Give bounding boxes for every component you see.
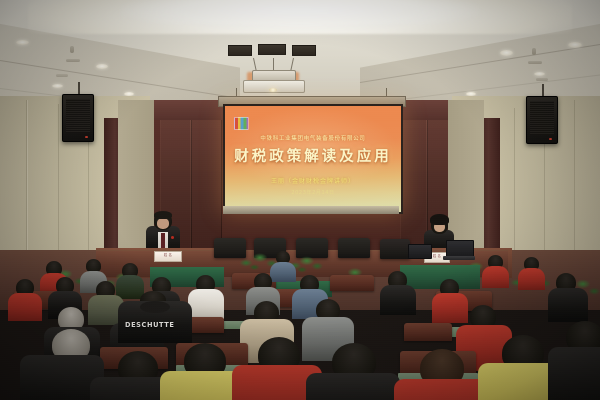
ceiling-speaker-baffle — [56, 74, 68, 77]
seat-back — [404, 323, 452, 341]
slide-title: 财税政策解读及应用 — [225, 145, 401, 166]
audience-torso — [518, 268, 545, 290]
audience-torso — [270, 262, 296, 282]
slide-date: 2023年2月14日 — [225, 189, 401, 196]
downlight — [52, 84, 63, 88]
downlight — [16, 40, 29, 45]
downlight — [96, 64, 108, 69]
seat-back — [330, 275, 374, 291]
audience-torso — [394, 379, 488, 400]
ceiling-light-panel-core — [120, 0, 480, 24]
audience-torso — [8, 293, 42, 321]
ceiling-panel-dark — [258, 44, 286, 55]
ceiling-speaker-baffle — [536, 78, 548, 81]
projector-assembly — [243, 58, 303, 92]
audience-area: DESCHUTTE — [0, 225, 600, 400]
ceiling-speaker — [532, 48, 536, 55]
slide-logo-icon — [234, 117, 249, 130]
audience-torso — [306, 373, 400, 400]
downlight — [568, 42, 582, 48]
projection-screen: 中铁科工业集团电气装备股份有限公司 财税政策解读及应用 王丽（金财财税金牌讲师）… — [223, 104, 403, 214]
audience-torso — [548, 288, 588, 322]
slide-company-line: 中铁科工业集团电气装备股份有限公司 — [225, 134, 401, 142]
ceiling-panel-dark — [292, 45, 316, 56]
ceiling-panel-dark — [228, 45, 252, 56]
audience-torso — [188, 289, 224, 319]
projection-screen-surface: 中铁科工业集团电气装备股份有限公司 财税政策解读及应用 王丽（金财财税金牌讲师）… — [225, 106, 401, 212]
projector-lens — [269, 88, 277, 92]
downlight — [500, 50, 513, 56]
audience-torso — [116, 275, 144, 299]
screen-bottom-bar — [223, 206, 399, 214]
audience-torso — [380, 285, 416, 315]
audience-torso — [548, 347, 600, 400]
wall-speaker-right — [526, 96, 558, 144]
conference-room-photo: 中铁科工业集团电气装备股份有限公司 财税政策解读及应用 王丽（金财财税金牌讲师）… — [0, 0, 600, 400]
slide-presenter: 王丽（金财财税金牌讲师） — [225, 176, 401, 185]
jacket-hood — [140, 301, 170, 313]
ceiling-speaker-baffle — [528, 61, 542, 64]
wall-speaker-left — [62, 94, 94, 142]
ceiling-speaker — [70, 46, 74, 53]
downlight — [534, 72, 545, 76]
audience-torso — [482, 266, 509, 288]
audience-torso — [432, 293, 468, 323]
jacket-brand-text: DESCHUTTE — [125, 321, 175, 329]
ceiling-speaker-baffle — [66, 59, 80, 62]
